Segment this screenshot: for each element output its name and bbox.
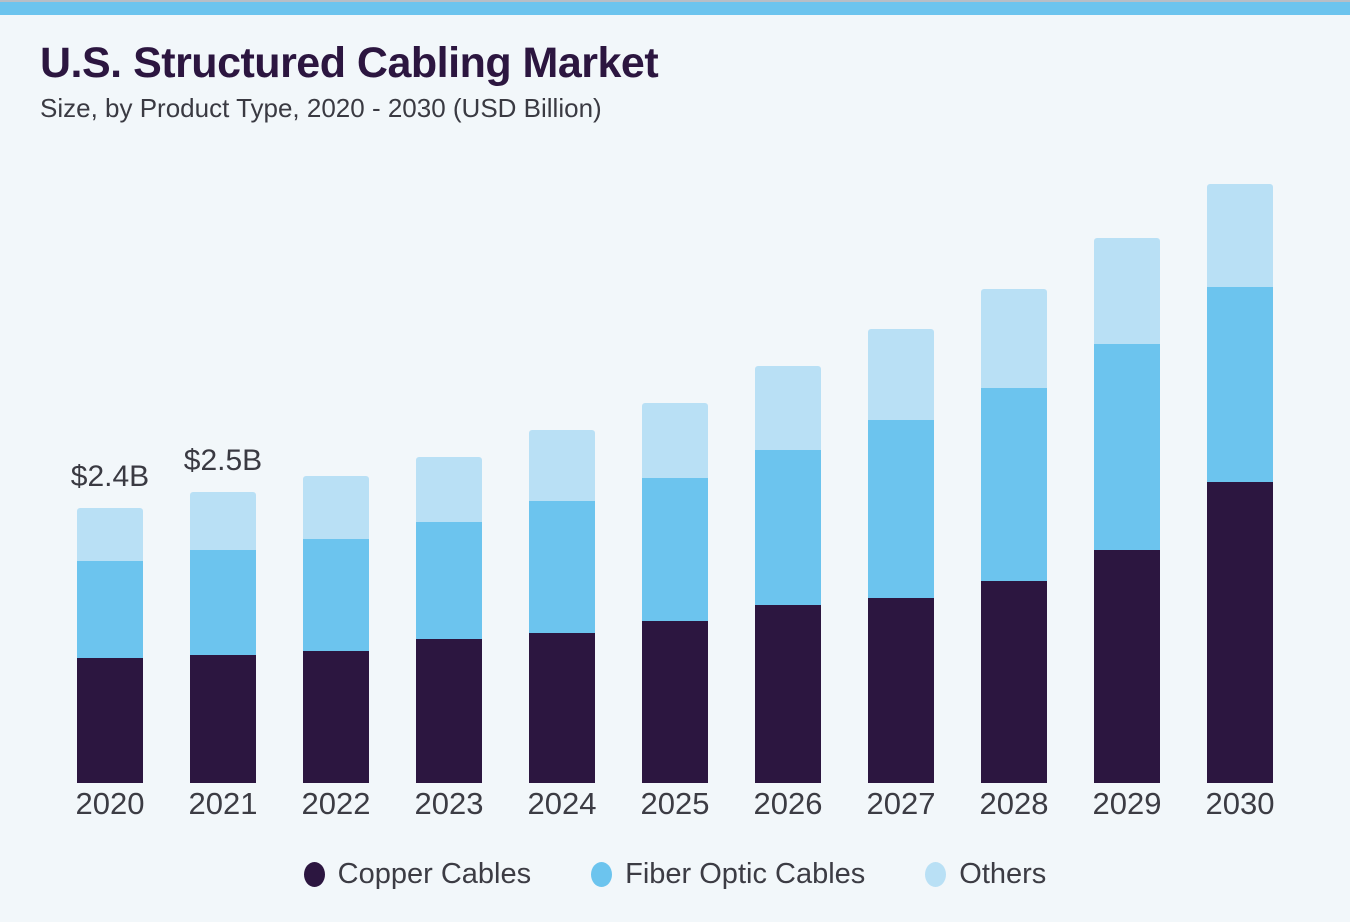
- legend-item[interactable]: Fiber Optic Cables: [591, 858, 865, 891]
- bar-segment-others[interactable]: [77, 508, 143, 561]
- bar-segment-others[interactable]: [755, 366, 821, 450]
- chart-card: U.S. Structured Cabling Market Size, by …: [0, 0, 1350, 922]
- bar-group: [77, 508, 143, 783]
- bar-segment-copper-cables[interactable]: [868, 598, 934, 783]
- bar-value-label: $2.5B: [133, 444, 313, 478]
- bar-segment-copper-cables[interactable]: [190, 655, 256, 783]
- stacked-bar[interactable]: [1207, 184, 1273, 783]
- bar-segment-fiber-optic-cables[interactable]: [529, 501, 595, 633]
- bar-segment-copper-cables[interactable]: [981, 581, 1047, 783]
- bar-segment-others[interactable]: [1207, 184, 1273, 287]
- x-tick-label-2028: 2028: [954, 786, 1074, 822]
- stacked-bar[interactable]: [981, 289, 1047, 783]
- bar-segment-copper-cables[interactable]: [1094, 550, 1160, 783]
- legend-label: Copper Cables: [338, 858, 531, 891]
- chart-legend: Copper CablesFiber Optic CablesOthers: [0, 858, 1350, 891]
- x-tick-label-2025: 2025: [615, 786, 735, 822]
- legend-item[interactable]: Others: [925, 858, 1046, 891]
- bar-segment-others[interactable]: [868, 329, 934, 420]
- bar-segment-others[interactable]: [190, 492, 256, 550]
- stacked-bar[interactable]: [303, 476, 369, 783]
- bar-group: [303, 476, 369, 783]
- stacked-bar[interactable]: [868, 329, 934, 783]
- x-tick-label-2021: 2021: [163, 786, 283, 822]
- bar-group: [529, 430, 595, 783]
- bar-group: [868, 329, 934, 783]
- bar-group: [416, 457, 482, 783]
- stacked-bar[interactable]: [1094, 238, 1160, 783]
- x-tick-label-2027: 2027: [841, 786, 961, 822]
- stacked-bar[interactable]: [416, 457, 482, 783]
- bar-segment-fiber-optic-cables[interactable]: [642, 478, 708, 621]
- bar-segment-copper-cables[interactable]: [529, 633, 595, 783]
- bar-segment-fiber-optic-cables[interactable]: [77, 561, 143, 658]
- stacked-bar[interactable]: [642, 403, 708, 783]
- bar-segment-fiber-optic-cables[interactable]: [190, 550, 256, 655]
- x-tick-label-2024: 2024: [502, 786, 622, 822]
- bar-group: [1094, 238, 1160, 783]
- bar-segment-fiber-optic-cables[interactable]: [755, 450, 821, 605]
- legend-swatch-circle-icon: [591, 862, 612, 887]
- legend-label: Others: [959, 858, 1046, 891]
- stacked-bar[interactable]: [190, 492, 256, 783]
- bar-group: [755, 366, 821, 783]
- bar-segment-fiber-optic-cables[interactable]: [981, 388, 1047, 581]
- bar-segment-copper-cables[interactable]: [303, 651, 369, 783]
- bar-segment-fiber-optic-cables[interactable]: [1094, 344, 1160, 550]
- x-tick-label-2026: 2026: [728, 786, 848, 822]
- bar-segment-copper-cables[interactable]: [1207, 482, 1273, 783]
- bar-segment-others[interactable]: [642, 403, 708, 478]
- stacked-bar[interactable]: [755, 366, 821, 783]
- bar-group: [642, 403, 708, 783]
- bar-segment-copper-cables[interactable]: [77, 658, 143, 783]
- bar-segment-fiber-optic-cables[interactable]: [416, 522, 482, 639]
- plot-area: $2.4B$2.5B: [0, 0, 1350, 783]
- legend-swatch-circle-icon: [925, 862, 946, 887]
- x-tick-label-2022: 2022: [276, 786, 396, 822]
- stacked-bar[interactable]: [77, 508, 143, 783]
- legend-label: Fiber Optic Cables: [625, 858, 865, 891]
- bar-segment-copper-cables[interactable]: [755, 605, 821, 783]
- x-tick-label-2030: 2030: [1180, 786, 1300, 822]
- x-tick-label-2029: 2029: [1067, 786, 1187, 822]
- bar-segment-copper-cables[interactable]: [416, 639, 482, 783]
- bar-segment-others[interactable]: [303, 476, 369, 539]
- bar-segment-copper-cables[interactable]: [642, 621, 708, 783]
- legend-item[interactable]: Copper Cables: [304, 858, 531, 891]
- bar-segment-others[interactable]: [981, 289, 1047, 388]
- bar-segment-fiber-optic-cables[interactable]: [303, 539, 369, 651]
- bar-group: [981, 289, 1047, 783]
- bar-segment-fiber-optic-cables[interactable]: [1207, 287, 1273, 482]
- bar-segment-fiber-optic-cables[interactable]: [868, 420, 934, 598]
- x-tick-label-2020: 2020: [50, 786, 170, 822]
- x-tick-label-2023: 2023: [389, 786, 509, 822]
- bar-segment-others[interactable]: [1094, 238, 1160, 344]
- bar-segment-others[interactable]: [416, 457, 482, 522]
- legend-swatch-circle-icon: [304, 862, 325, 887]
- bar-segment-others[interactable]: [529, 430, 595, 501]
- x-axis: 2020202120222023202420252026202720282029…: [0, 786, 1350, 836]
- bar-group: [190, 492, 256, 783]
- bar-group: [1207, 184, 1273, 783]
- stacked-bar[interactable]: [529, 430, 595, 783]
